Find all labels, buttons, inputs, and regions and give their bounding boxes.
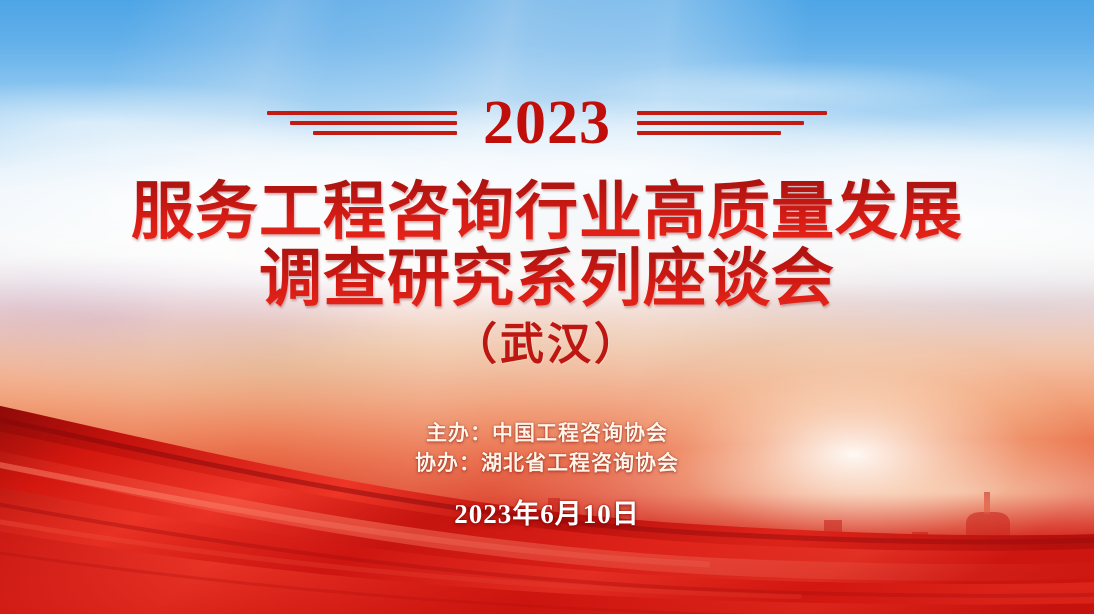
event-date-label: 2023年6月10日 — [0, 501, 1094, 528]
conference-poster: 2023 服务工程咨询行业高质量发展 调查研究系列座谈会 （武汉） 主办：中国工… — [0, 0, 1094, 614]
title-line-1: 服务工程咨询行业高质量发展 — [0, 178, 1094, 245]
city-subtitle: （武汉） — [0, 321, 1094, 369]
credits-block: 主办：中国工程咨询协会 协办：湖北省工程咨询协会 2023年6月10日 — [0, 418, 1094, 528]
year-header: 2023 — [0, 92, 1094, 154]
triple-rule-left-icon — [267, 111, 457, 135]
year-label: 2023 — [483, 92, 611, 154]
poster-title-block: 服务工程咨询行业高质量发展 调查研究系列座谈会 （武汉） — [0, 178, 1094, 369]
organizer-main-label: 主办：中国工程咨询协会 — [0, 418, 1094, 448]
organizer-co-label: 协办：湖北省工程咨询协会 — [0, 448, 1094, 478]
triple-rule-right-icon — [637, 111, 827, 135]
title-line-2: 调查研究系列座谈会 — [0, 245, 1094, 312]
